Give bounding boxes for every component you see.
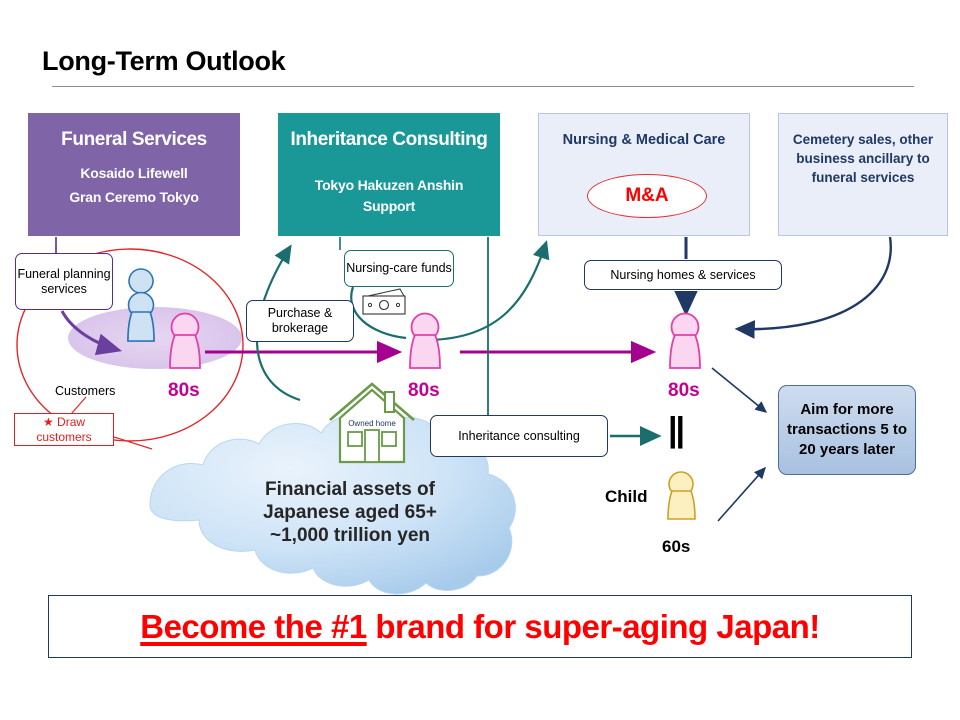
callout-funeral-planning-services[interactable]: Funeral planning services — [15, 253, 113, 310]
label-age-right: 80s — [668, 380, 700, 402]
pillar-subline-2: Gran Ceremo Tokyo — [69, 187, 198, 207]
leader-draw-customers-2 — [114, 437, 152, 449]
leader-draw-customers-1 — [72, 397, 86, 413]
figure-customer-blue — [128, 269, 154, 341]
label-age-left: 80s — [168, 380, 200, 402]
callout-purchase-brokerage[interactable]: Purchase & brokerage — [246, 300, 354, 342]
label-equals-mark: || — [668, 413, 683, 447]
callout-aim-for-more-transactions[interactable]: Aim for more transactions 5 to 20 years … — [778, 385, 916, 475]
customer-pool-ellipse — [68, 307, 242, 369]
pillar-heading: Funeral Services — [61, 129, 207, 151]
label-child-age: 60s — [662, 537, 690, 557]
ma-badge: M&A — [587, 174, 707, 218]
cloud-line-1: Financial assets of — [200, 478, 500, 501]
label-child: Child — [605, 487, 648, 507]
arrow-child-to-aim — [718, 468, 765, 521]
callout-draw-customers[interactable]: ★ Draw customers — [14, 413, 114, 446]
figure-child-yellow — [668, 472, 695, 519]
arrow-person-to-aim — [712, 368, 766, 412]
callout-nursing-homes-services[interactable]: Nursing homes & services — [584, 260, 782, 290]
arrow-nursing-care-funds — [351, 287, 406, 338]
callout-nursing-care-funds[interactable]: Nursing-care funds — [344, 250, 454, 287]
pillar-cemetery-sales[interactable]: Cemetery sales, other business ancillary… — [778, 113, 948, 236]
pillar-subline-2: Support — [363, 196, 415, 216]
slide-canvas: Long-Term Outlook Funeral Services Kosai… — [0, 0, 960, 720]
banner-text: Become the #1 brand for super-aging Japa… — [140, 608, 819, 646]
page-title: Long-Term Outlook — [42, 46, 285, 77]
figure-elder-middle-pink — [410, 314, 440, 369]
pillar-heading: Cemetery sales, other business ancillary… — [779, 130, 947, 187]
banknote-icon — [363, 289, 405, 314]
cloud-line-2: Japanese aged 65+ — [200, 501, 500, 524]
pillar-subline-1: Kosaido Lifewell — [80, 163, 187, 183]
pillar-nursing-medical-care[interactable]: Nursing & Medical Care M&A — [538, 113, 750, 236]
title-divider — [52, 86, 914, 87]
figure-elder-left-pink — [170, 314, 200, 369]
cloud-line-3: ~1,000 trillion yen — [200, 524, 500, 547]
label-customers: Customers — [55, 384, 115, 398]
pillar-subline-1: Tokyo Hakuzen Anshin — [315, 175, 463, 195]
label-owned-home: Owned home — [336, 419, 408, 428]
cloud-financial-assets-text: Financial assets of Japanese aged 65+ ~1… — [200, 478, 500, 547]
pillar-heading: Inheritance Consulting — [290, 129, 487, 151]
figure-elder-right-pink — [670, 314, 700, 369]
pillar-inheritance-consulting[interactable]: Inheritance Consulting Tokyo Hakuzen Ans… — [278, 113, 500, 236]
banner-rest-part: brand for super-aging Japan! — [367, 608, 820, 645]
callout-inheritance-consulting[interactable]: Inheritance consulting — [430, 415, 608, 457]
arrow-funeral-planning — [62, 311, 118, 350]
bottom-banner: Become the #1 brand for super-aging Japa… — [48, 595, 912, 658]
pillar-heading: Nursing & Medical Care — [563, 132, 726, 148]
banner-underlined-part: Become the #1 — [140, 608, 366, 645]
pillar-funeral-services[interactable]: Funeral Services Kosaido Lifewell Gran C… — [28, 113, 240, 236]
label-age-middle: 80s — [408, 380, 440, 402]
